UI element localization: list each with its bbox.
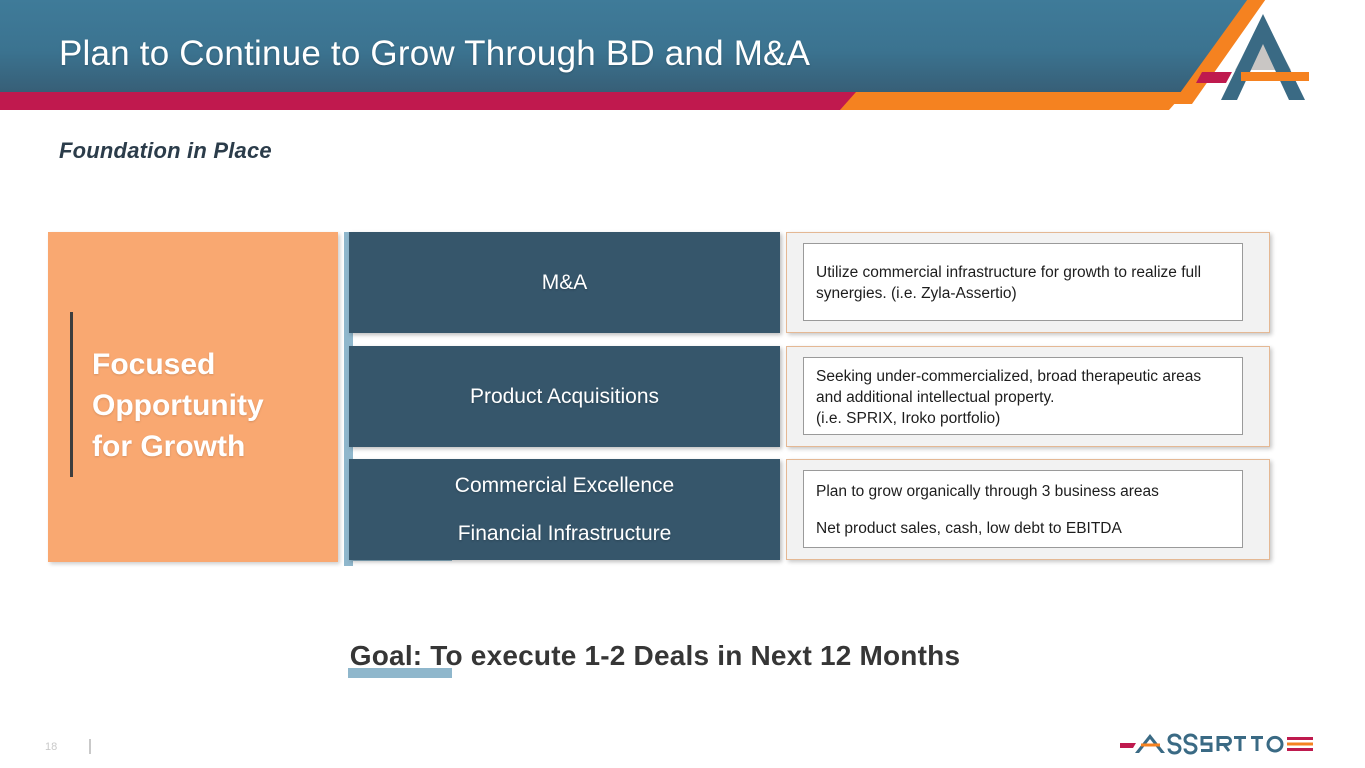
description-card-product-acquisitions[interactable]: Seeking under-commercialized, broad ther… xyxy=(786,346,1270,447)
description-inner: Plan to grow organically through 3 busin… xyxy=(803,470,1243,548)
description-spacer xyxy=(816,502,1230,518)
header-orange-stripe xyxy=(840,92,1185,110)
slide-header: Plan to Continue to Grow Through BD and … xyxy=(0,0,1365,110)
page-title: Plan to Continue to Grow Through BD and … xyxy=(59,34,810,74)
assertio-wordmark-logo-icon xyxy=(1120,729,1316,759)
diagram-row: Product Acquisitions Seeking under-comme… xyxy=(0,346,1365,447)
description-inner: Seeking under-commercialized, broad ther… xyxy=(803,357,1243,435)
category-box-commercial-excellence[interactable]: Commercial Excellence Financial Infrastr… xyxy=(349,459,780,560)
assertio-a-mark-icon xyxy=(1185,8,1360,108)
diagram-row: M&A Utilize commercial infrastructure fo… xyxy=(0,232,1365,333)
header-magenta-stripe xyxy=(0,92,860,110)
description-line: and additional intellectual property. xyxy=(816,387,1230,408)
category-label: M&A xyxy=(542,270,588,296)
category-box-ma[interactable]: M&A xyxy=(349,232,780,333)
category-box-product-acquisitions[interactable]: Product Acquisitions xyxy=(349,346,780,447)
diagram: Focused Opportunity for Growth M&A Utili… xyxy=(0,222,1365,572)
description-line: Utilize commercial infrastructure for gr… xyxy=(816,262,1230,283)
goal-statement: Goal: To execute 1-2 Deals in Next 12 Mo… xyxy=(0,640,1310,672)
category-label: Product Acquisitions xyxy=(470,384,659,410)
description-line: Seeking under-commercialized, broad ther… xyxy=(816,366,1230,387)
category-label-secondary: Financial Infrastructure xyxy=(458,521,672,547)
section-subtitle: Foundation in Place xyxy=(59,138,272,164)
category-label: Commercial Excellence xyxy=(455,473,674,499)
description-inner: Utilize commercial infrastructure for gr… xyxy=(803,243,1243,321)
description-line: synergies. (i.e. Zyla-Assertio) xyxy=(816,283,1230,304)
description-line: (i.e. SPRIX, Iroko portfolio) xyxy=(816,408,1230,429)
diagram-row: Commercial Excellence Financial Infrastr… xyxy=(0,459,1365,560)
description-card-commercial-excellence[interactable]: Plan to grow organically through 3 busin… xyxy=(786,459,1270,560)
description-line: Plan to grow organically through 3 busin… xyxy=(816,481,1230,502)
footer-separator xyxy=(89,739,91,754)
page-number: 18 xyxy=(45,741,57,753)
description-card-ma[interactable]: Utilize commercial infrastructure for gr… xyxy=(786,232,1270,333)
slide: Plan to Continue to Grow Through BD and … xyxy=(0,0,1365,768)
description-line: Net product sales, cash, low debt to EBI… xyxy=(816,518,1230,539)
